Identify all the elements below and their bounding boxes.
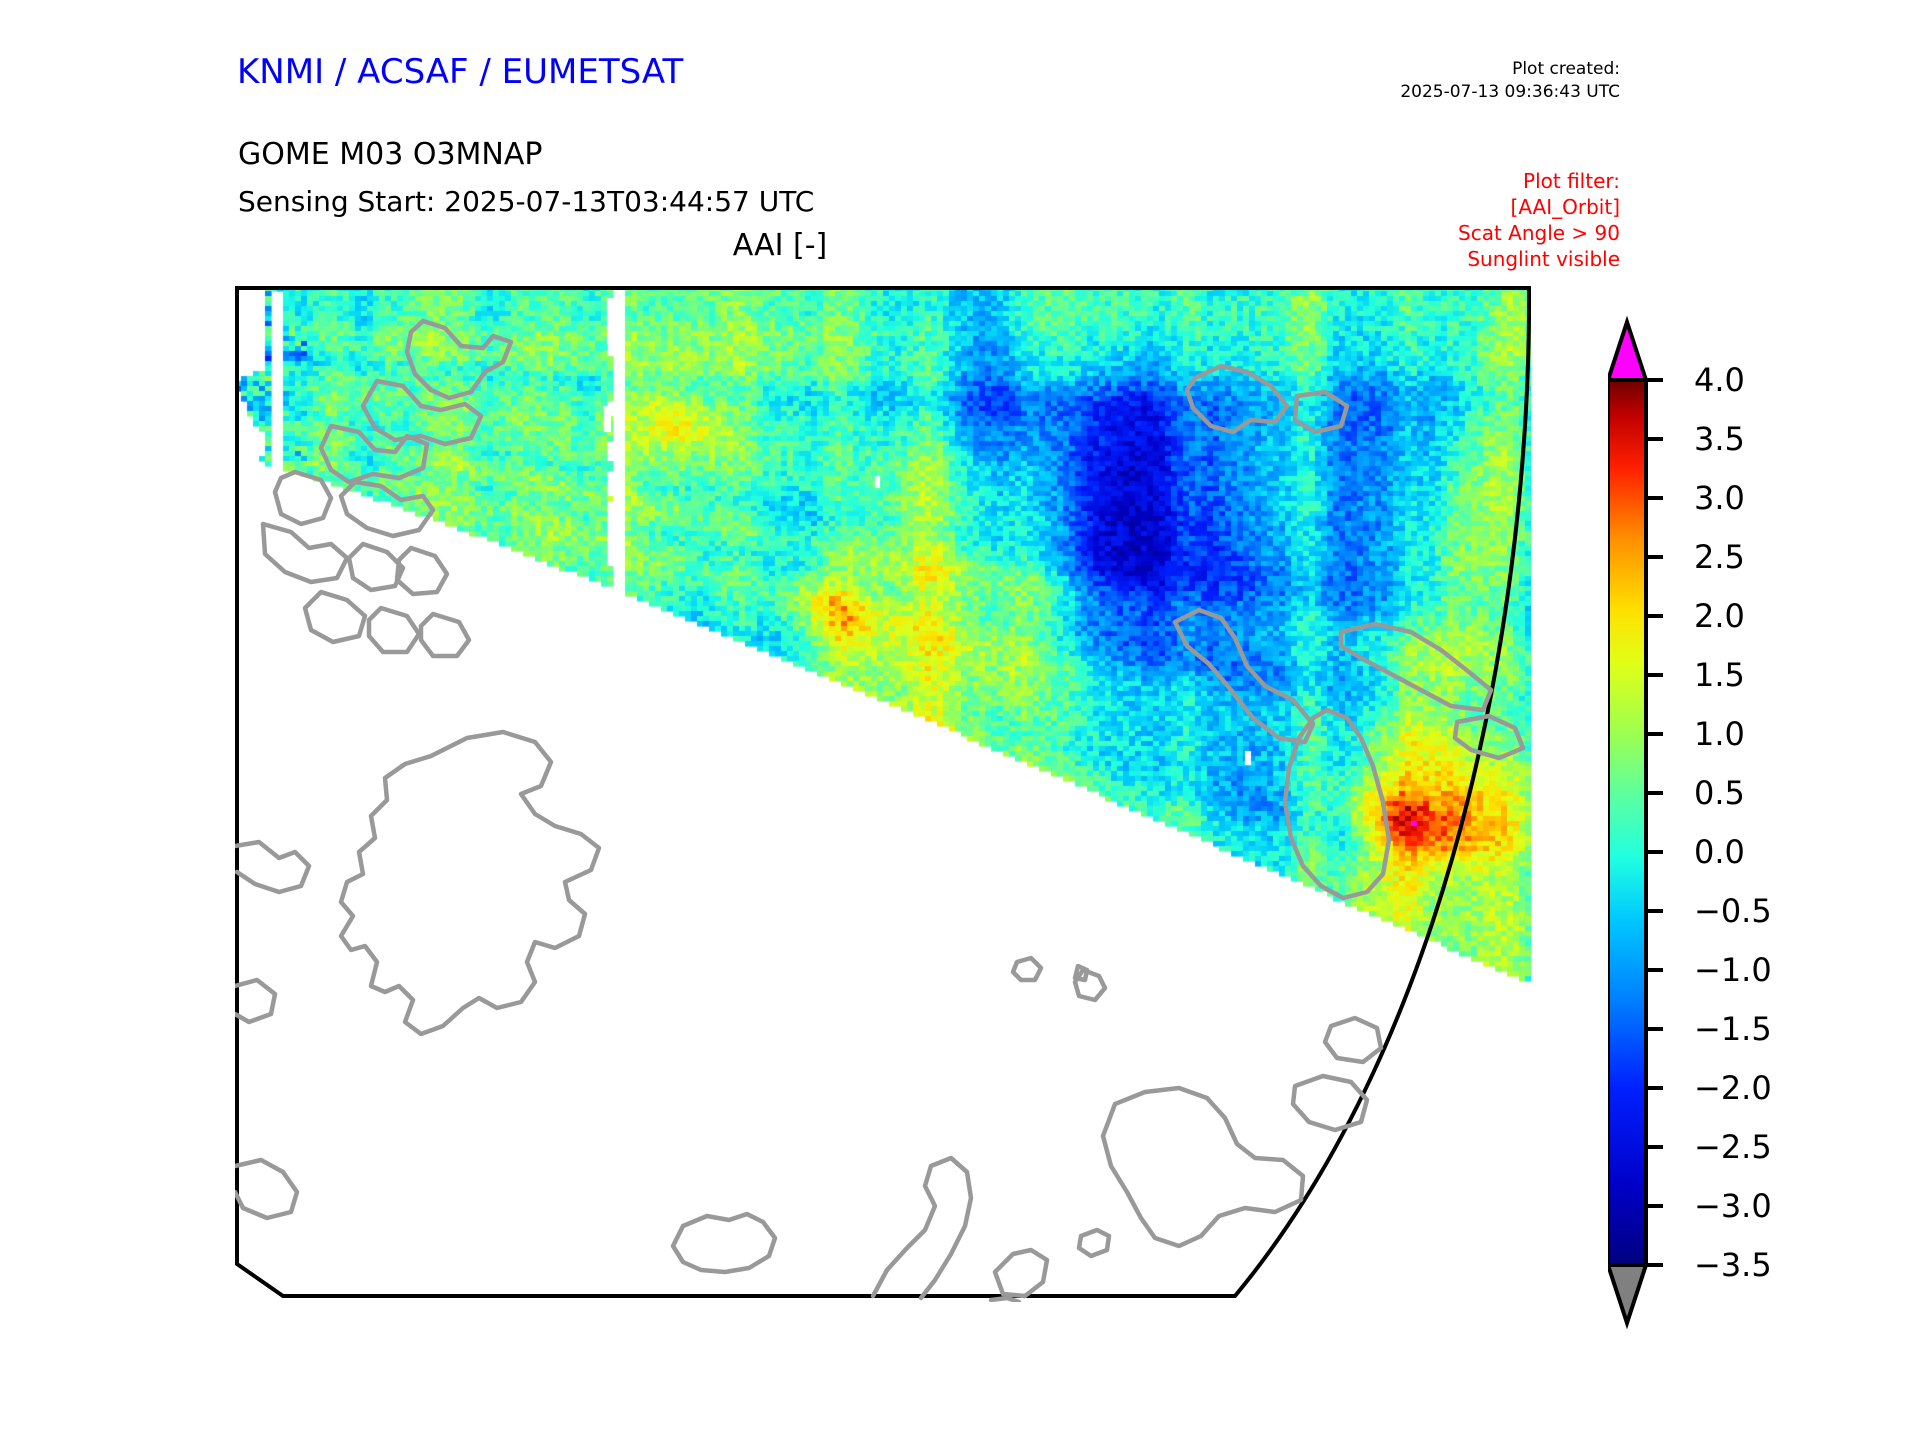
colorbar-tick-4: 2.0 xyxy=(1694,597,1745,635)
product-name: GOME M03 O3MNAP xyxy=(238,137,542,172)
colorbar-tick-10: −1.0 xyxy=(1694,951,1772,989)
colorbar-tick-0: 4.0 xyxy=(1694,361,1745,399)
plot-filter-sunglint: Sunglint visible xyxy=(1458,246,1620,272)
plot-filter-block: Plot filter: [AAI_Orbit] Scat Angle > 90… xyxy=(1458,168,1620,272)
colorbar-tick-2: 3.0 xyxy=(1694,479,1745,517)
plot-created-label: Plot created: xyxy=(1400,58,1620,81)
plot-filter-product: [AAI_Orbit] xyxy=(1458,194,1620,220)
colorbar-tick-3: 2.5 xyxy=(1694,538,1745,576)
plot-page: KNMI / ACSAF / EUMETSAT Plot created: 20… xyxy=(0,0,1920,1440)
colorbar-tick-12: −2.0 xyxy=(1694,1069,1772,1107)
colorbar-tick-5: 1.5 xyxy=(1694,656,1745,694)
plot-filter-scat-angle: Scat Angle > 90 xyxy=(1458,220,1620,246)
colorbar-tick-6: 1.0 xyxy=(1694,715,1745,753)
map-plot-area[interactable] xyxy=(235,286,1531,1302)
colorbar-tick-8: 0.0 xyxy=(1694,833,1745,871)
plot-filter-label: Plot filter: xyxy=(1458,168,1620,194)
colorbar[interactable]: 4.03.53.02.52.01.51.00.50.0−0.5−1.0−1.5−… xyxy=(1608,290,1848,1350)
colorbar-tick-9: −0.5 xyxy=(1694,892,1772,930)
organisation-title: KNMI / ACSAF / EUMETSAT xyxy=(237,52,683,92)
colorbar-tick-7: 0.5 xyxy=(1694,774,1745,812)
plot-created-value: 2025-07-13 09:36:43 UTC xyxy=(1400,81,1620,104)
colorbar-tick-11: −1.5 xyxy=(1694,1010,1772,1048)
page-title: AAI [-] xyxy=(0,228,1560,263)
colorbar-tick-14: −3.0 xyxy=(1694,1187,1772,1225)
map-overlay xyxy=(235,286,1531,1302)
colorbar-tick-1: 3.5 xyxy=(1694,420,1745,458)
colorbar-tick-13: −2.5 xyxy=(1694,1128,1772,1166)
colorbar-tick-15: −3.5 xyxy=(1694,1246,1772,1284)
sensing-start: Sensing Start: 2025-07-13T03:44:57 UTC xyxy=(238,185,814,218)
plot-created-block: Plot created: 2025-07-13 09:36:43 UTC xyxy=(1400,58,1620,104)
